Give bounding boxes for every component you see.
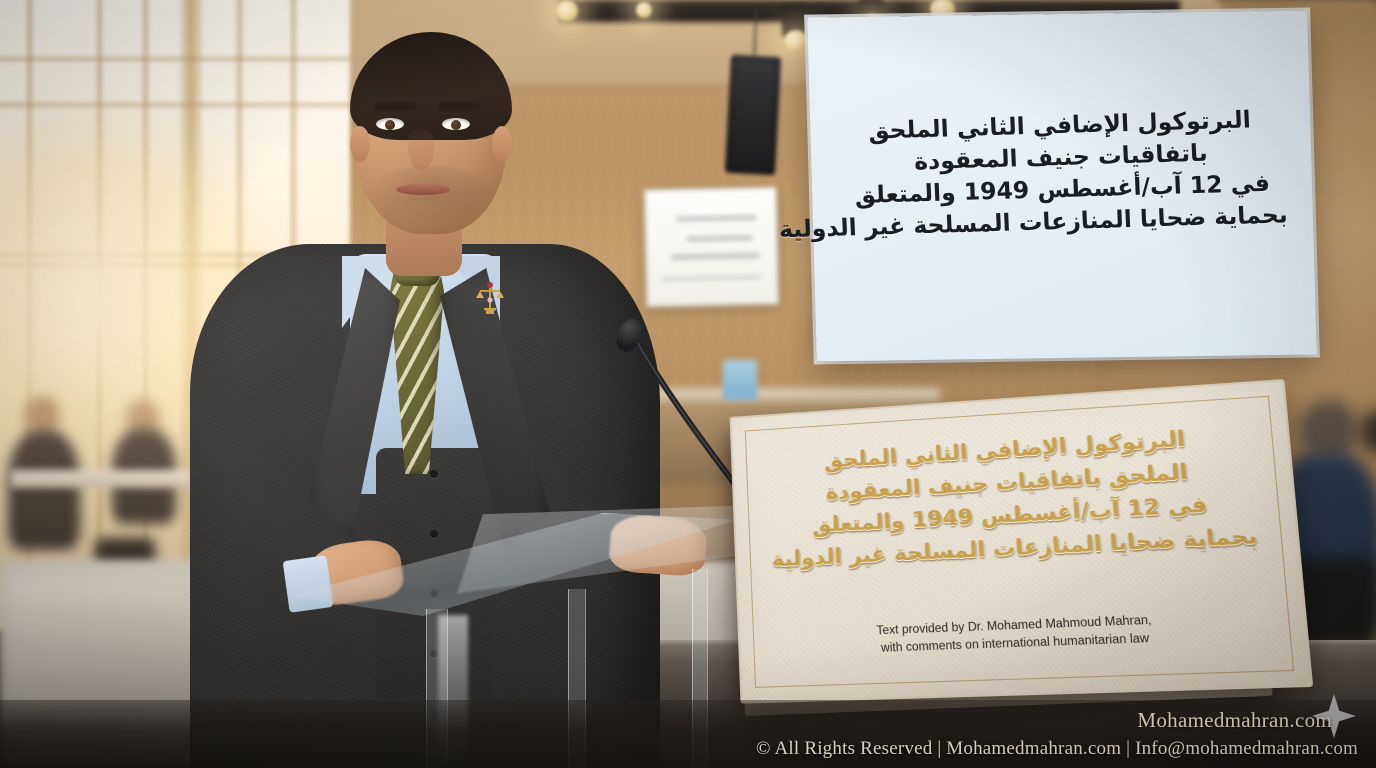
background-person-body [8,430,80,550]
watermark-copyright: © All Rights Reserved | Mohamedmahran.co… [0,738,1358,760]
audience-head [1300,400,1358,460]
track-light-icon [784,30,808,52]
mouth [396,184,450,195]
presentation-text: البرتوكول الإضافي الثاني الملحق باتفاقيا… [809,103,1314,246]
podium-plaque: البرتوكول الإضافي الثاني الملحق الملحق ب… [729,394,1278,714]
scales-of-justice-pin-icon [476,280,504,320]
hair [350,32,512,140]
vest-button [430,470,438,478]
nose [408,128,434,170]
ear-right [492,126,512,162]
main-presentation-screen: البرتوكول الإضافي الثاني الملحق باتفاقيا… [807,11,1317,362]
beard-shadow [366,166,496,228]
ear-left [350,126,370,162]
eyebrow-left [374,102,416,111]
line-array-speaker-icon [725,55,781,175]
plaque-face: البرتوكول الإضافي الثاني الملحق الملحق ب… [730,379,1314,704]
track-light-icon [636,2,652,18]
eye-left [376,118,404,130]
eyebrow-right [438,102,480,111]
watermark-site: Mohamedmahran.com [1137,708,1332,733]
eye-right [442,118,470,130]
background-table [10,470,190,488]
screenshot-root: البرتوكول الإضافي الثاني الملحق باتفاقيا… [0,0,1376,768]
